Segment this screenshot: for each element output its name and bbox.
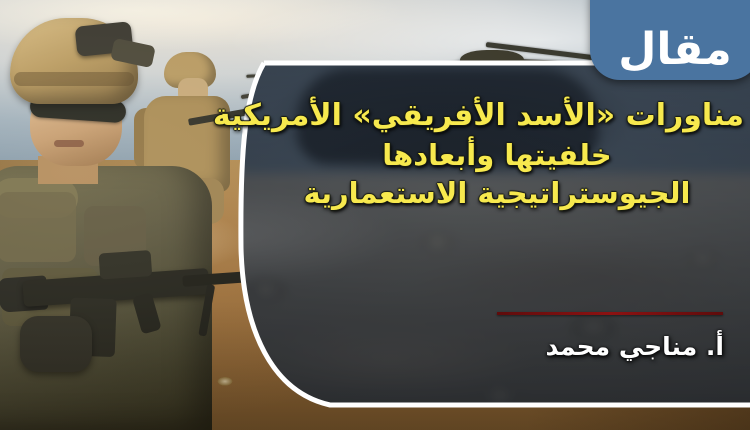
author-name: أ. مناجي محمد <box>390 332 724 361</box>
headline-line-1: مناورات «الأسد الأفريقي» الأمريكية <box>250 96 744 136</box>
article-badge-label: مقال <box>590 28 750 72</box>
article-badge[interactable]: مقال <box>590 0 750 80</box>
article-cover-card: مناورات «الأسد الأفريقي» الأمريكية خلفيت… <box>0 0 750 430</box>
headline-line-3: الجيوستراتيجية الاستعمارية <box>250 174 744 212</box>
headline-line-2: خلفيتها وأبعادها <box>250 136 744 174</box>
headline-block: مناورات «الأسد الأفريقي» الأمريكية خلفيت… <box>250 96 744 212</box>
author-divider <box>497 312 723 315</box>
